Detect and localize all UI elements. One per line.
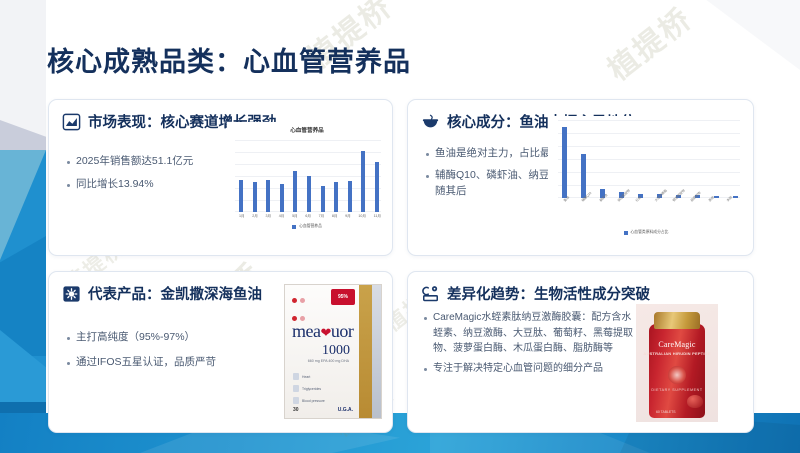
x-tick-label: 10月	[358, 214, 366, 219]
left-decoration	[0, 0, 46, 453]
package-front: 95% mea❤uor 1000 660 mg EPA 400 mg DHA H…	[285, 285, 359, 418]
legend-swatch	[292, 225, 296, 229]
chart-bar	[733, 196, 738, 198]
package-strength: 1000	[322, 343, 350, 359]
bowl-icon	[421, 113, 440, 131]
chart-bar	[280, 184, 284, 212]
package-dose: 660 mg EPA 400 mg DHA	[308, 359, 349, 364]
bottle-cap	[654, 312, 700, 329]
chart-bar	[266, 180, 270, 212]
bottle-count: 60 TABLETS	[656, 410, 675, 414]
chart-legend: 心血管类原料成分占比	[548, 230, 744, 235]
card-market-performance: 市场表现：核心赛道增长强劲 2025年销售额达51.1亿元 同比增长13.94%…	[48, 99, 393, 256]
chart-bar	[581, 154, 586, 198]
x-tick-label: 4月	[279, 214, 285, 219]
card-title: 差异化趋势：生物活性成分突破	[447, 283, 650, 304]
feature-row: Triglycerides	[293, 385, 325, 392]
brand-part-right: uor	[331, 321, 354, 341]
list-item: 2025年销售额达51.1亿元	[65, 154, 245, 170]
chart-title: 心血管营养品	[227, 126, 387, 134]
chart-bar	[348, 181, 352, 212]
package-features: Heart Triglycerides Blood pressure	[293, 373, 325, 409]
page-title: 核心成熟品类：心血管营养品	[47, 40, 411, 79]
feature-label: Blood pressure	[302, 399, 325, 403]
top-right-decoration	[680, 0, 800, 70]
chart-bar	[562, 127, 567, 198]
product-package-image: 95% mea❤uor 1000 660 mg EPA 400 mg DHA H…	[284, 284, 382, 419]
feature-icon	[293, 385, 299, 392]
heart-icon: ❤	[320, 325, 330, 341]
chart-bars	[239, 140, 379, 212]
list-item: 主打高纯度（95%-97%）	[65, 330, 245, 346]
card-representative-product: 代表产品：金凯撒深海鱼油 主打高纯度（95%-97%） 通过IFOS五星认证，品…	[48, 271, 393, 433]
x-tick-label: 8月	[332, 214, 338, 219]
feature-label: Heart	[302, 375, 310, 379]
feature-row: Heart	[293, 373, 325, 380]
bottle-subtitle: AUSTRALIAN HIRUDIN PEPTIDE	[636, 351, 718, 356]
package-brand: mea❤uor	[292, 321, 353, 342]
card-differentiation-trend: 差异化趋势：生物活性成分突破 CareMagic水蛭素肽纳豆激酶胶囊：配方含水蛭…	[407, 271, 754, 433]
bottle-claim: DIETARY SUPPLEMENT	[636, 388, 718, 392]
feature-row: Blood pressure	[293, 397, 325, 404]
list-item: 专注于解决特定心血管问题的细分产品	[422, 361, 637, 377]
chart-bar	[253, 182, 257, 212]
card-header: 差异化趋势：生物活性成分突破	[408, 272, 753, 304]
feature-icon	[293, 373, 299, 380]
brand-part-left: mea	[292, 321, 320, 341]
chart-bar	[361, 151, 365, 212]
chart-bar	[334, 182, 338, 212]
bullet-list: 2025年销售额达51.1亿元 同比增长13.94%	[65, 154, 245, 193]
capsule-count: 30	[293, 407, 299, 413]
bottle-emblem	[668, 366, 686, 384]
x-tick-label: 2月	[252, 214, 258, 219]
chart-bar	[239, 180, 243, 212]
bottle-brand: CareMagic	[636, 340, 718, 349]
chart-plot-area	[558, 120, 740, 198]
slide-canvas: 植提桥 植提桥 植提桥 植提桥 植提桥 植提桥 植提桥 植提桥 植提桥 植提桥 …	[0, 0, 800, 453]
chart-x-axis: 1月2月3月4月5月6月7月8月9月10月11月	[239, 214, 381, 219]
chart-bar	[307, 176, 311, 212]
feature-icon	[293, 397, 299, 404]
package-edge	[372, 285, 381, 418]
bullet-list: 主打高纯度（95%-97%） 通过IFOS五星认证，品质严苛	[65, 330, 245, 371]
list-item: 同比增长13.94%	[65, 177, 245, 193]
x-tick-label: 9月	[345, 214, 351, 219]
product-bottle-image: CareMagic AUSTRALIAN HIRUDIN PEPTIDE DIE…	[636, 304, 718, 422]
feature-label: Triglycerides	[302, 387, 321, 391]
ingredient-share-chart: 鱼油辅酶Q10磷虾油纳豆提取物红曲大豆卵磷脂银杏提取物蒜提取物其他未知 心血管类…	[548, 116, 744, 251]
chart-legend: 心血管营养品	[227, 224, 387, 229]
x-tick-label: 1月	[239, 214, 245, 219]
chart-bar	[375, 162, 379, 212]
x-tick-label: 11月	[374, 214, 381, 219]
card-core-ingredients: 核心成分：鱼油占据主导地位 鱼油是绝对主力，占比最高 辅酶Q10、磷虾油、纳豆提…	[407, 99, 754, 256]
purity-badge: 95%	[331, 289, 355, 305]
legend-label: 心血管类原料成分占比	[631, 230, 669, 235]
x-tick-label: 5月	[292, 214, 298, 219]
chart-bar	[293, 171, 297, 212]
chart-bar	[321, 186, 325, 212]
x-tick-label: 3月	[266, 214, 272, 219]
legend-swatch	[624, 231, 628, 235]
presentation-board-icon	[421, 285, 440, 303]
bar-chart-icon	[62, 113, 81, 131]
x-tick-label: 7月	[319, 214, 325, 219]
chart-bars	[562, 120, 738, 198]
chart-plot-area	[235, 140, 381, 212]
x-tick-label: 6月	[305, 214, 311, 219]
badge-star-icon	[62, 285, 81, 303]
card-title: 代表产品：金凯撒深海鱼油	[88, 283, 262, 304]
monthly-sales-chart: 心血管营养品 1月2月3月4月5月6月7月8月9月10月11月 心血管营养品	[227, 122, 387, 250]
chart-x-axis: 鱼油辅酶Q10磷虾油纳豆提取物红曲大豆卵磷脂银杏提取物蒜提取物其他未知	[558, 199, 740, 225]
package-footer: 30 U.G.A.	[293, 407, 353, 413]
bullet-list: CareMagic水蛭素肽纳豆激酶胶囊：配方含水蛭素、纳豆激酶、大豆肽、葡萄籽、…	[422, 310, 637, 376]
berry-illustration	[687, 395, 703, 408]
manufacturer-logo: U.G.A.	[338, 407, 353, 413]
package-spine	[359, 285, 372, 418]
legend-label: 心血管营养品	[299, 224, 322, 229]
watermark: 植提桥	[597, 0, 700, 89]
list-item: 通过IFOS五星认证，品质严苛	[65, 355, 245, 371]
list-item: CareMagic水蛭素肽纳豆激酶胶囊：配方含水蛭素、纳豆激酶、大豆肽、葡萄籽、…	[422, 310, 637, 357]
